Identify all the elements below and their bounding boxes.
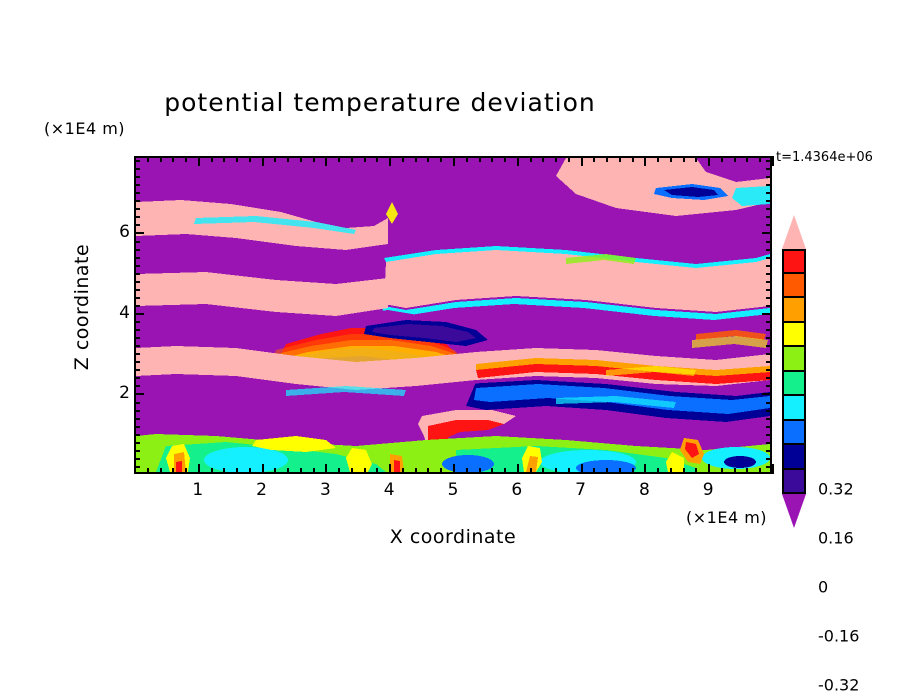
- axis-tick: [134, 402, 140, 404]
- axis-tick: [491, 468, 493, 474]
- axis-tick: [134, 450, 140, 452]
- axis-tick: [134, 442, 140, 444]
- axis-tick: [262, 464, 264, 474]
- axis-tick: [172, 156, 174, 162]
- x-tick-label: 8: [639, 480, 650, 500]
- axis-tick: [466, 468, 468, 474]
- axis-tick: [766, 466, 772, 468]
- axis-tick: [766, 385, 772, 387]
- axis-tick: [134, 297, 140, 299]
- axis-tick: [134, 192, 140, 194]
- axis-tick: [389, 156, 391, 166]
- axis-tick: [766, 289, 772, 291]
- colorbar-tick-label: -0.32: [818, 675, 859, 694]
- axis-tick: [134, 232, 144, 234]
- axis-tick: [313, 468, 315, 474]
- axis-tick: [766, 402, 772, 404]
- axis-tick: [134, 353, 140, 355]
- axis-tick: [287, 468, 289, 474]
- axis-tick: [766, 442, 772, 444]
- axis-tick: [762, 232, 772, 234]
- x-tick-label: 5: [448, 480, 459, 500]
- axis-tick: [766, 353, 772, 355]
- axis-tick: [274, 156, 276, 162]
- axis-tick: [453, 156, 455, 166]
- axis-tick: [134, 393, 144, 395]
- axis-tick: [440, 156, 442, 162]
- axis-tick: [134, 458, 140, 460]
- axis-tick: [262, 156, 264, 166]
- axis-tick: [619, 468, 621, 474]
- plot-frame: [134, 156, 772, 474]
- x-tick-label: 6: [511, 480, 522, 500]
- axis-tick: [236, 468, 238, 474]
- axis-tick: [695, 156, 697, 162]
- axis-tick: [644, 156, 646, 166]
- axis-tick: [134, 160, 140, 162]
- axis-tick: [766, 418, 772, 420]
- axis-tick: [402, 156, 404, 162]
- axis-tick: [134, 281, 140, 283]
- axis-tick: [766, 434, 772, 436]
- axis-tick: [504, 468, 506, 474]
- x-tick-label: 9: [703, 480, 714, 500]
- axis-tick: [134, 369, 140, 371]
- axis-tick: [274, 468, 276, 474]
- axis-tick: [134, 418, 140, 420]
- axis-tick: [198, 156, 200, 166]
- colorbar-under-arrow: [782, 494, 806, 528]
- axis-tick: [606, 468, 608, 474]
- colorbar-band: [782, 372, 806, 397]
- axis-tick: [746, 156, 748, 162]
- x-tick-label: 1: [192, 480, 203, 500]
- colorbar-band: [782, 470, 806, 495]
- axis-tick: [491, 156, 493, 162]
- axis-tick: [134, 345, 140, 347]
- axis-tick: [568, 156, 570, 162]
- axis-tick: [766, 257, 772, 259]
- axis-tick: [766, 184, 772, 186]
- axis-tick: [568, 468, 570, 474]
- axis-tick: [734, 468, 736, 474]
- axis-tick: [325, 156, 327, 166]
- axis-tick: [772, 156, 774, 166]
- axis-tick: [376, 468, 378, 474]
- axis-tick: [479, 156, 481, 162]
- axis-tick: [766, 369, 772, 371]
- axis-tick: [734, 156, 736, 162]
- axis-tick: [766, 281, 772, 283]
- axis-tick: [211, 156, 213, 162]
- axis-tick: [530, 468, 532, 474]
- axis-tick: [364, 156, 366, 162]
- axis-tick: [695, 468, 697, 474]
- axis-tick: [134, 385, 140, 387]
- axis-tick: [657, 468, 659, 474]
- x-tick-label: 3: [320, 480, 331, 500]
- axis-tick: [185, 156, 187, 162]
- y-axis-unit-label: (×1E4 m): [44, 119, 125, 138]
- colorbar-tick-label: 0: [818, 577, 828, 596]
- axis-tick: [593, 468, 595, 474]
- axis-tick: [160, 156, 162, 162]
- axis-tick: [134, 224, 140, 226]
- colorbar-band: [782, 298, 806, 323]
- axis-tick: [172, 468, 174, 474]
- axis-tick: [415, 156, 417, 162]
- axis-tick: [766, 450, 772, 452]
- axis-tick: [632, 156, 634, 162]
- x-tick-label: 2: [256, 480, 267, 500]
- axis-tick: [766, 426, 772, 428]
- x-tick-label: 4: [384, 480, 395, 500]
- axis-tick: [134, 426, 140, 428]
- axis-tick: [504, 156, 506, 162]
- axis-tick: [766, 361, 772, 363]
- axis-tick: [427, 468, 429, 474]
- axis-tick: [683, 468, 685, 474]
- axis-tick: [134, 168, 140, 170]
- axis-tick: [300, 468, 302, 474]
- axis-tick: [766, 297, 772, 299]
- colorbar-band: [782, 347, 806, 372]
- axis-tick: [134, 208, 140, 210]
- colorbar-band: [782, 396, 806, 421]
- axis-tick: [766, 305, 772, 307]
- axis-tick: [766, 208, 772, 210]
- axis-tick: [542, 468, 544, 474]
- axis-tick: [746, 468, 748, 474]
- axis-tick: [766, 377, 772, 379]
- axis-tick: [530, 156, 532, 162]
- x-axis-title: X coordinate: [134, 526, 772, 548]
- axis-tick: [223, 468, 225, 474]
- axis-tick: [325, 464, 327, 474]
- axis-tick: [479, 468, 481, 474]
- axis-tick: [632, 468, 634, 474]
- axis-tick: [517, 156, 519, 166]
- y-tick-label: 6: [104, 222, 130, 242]
- axis-tick: [766, 241, 772, 243]
- axis-tick: [185, 468, 187, 474]
- colorbar-band: [782, 274, 806, 299]
- time-annotation: t=1.4364e+06: [776, 150, 873, 165]
- axis-tick: [223, 156, 225, 162]
- axis-tick: [134, 289, 140, 291]
- axis-tick: [134, 377, 140, 379]
- colorbar-over-arrow: [782, 215, 806, 249]
- axis-tick: [134, 434, 140, 436]
- axis-tick: [766, 337, 772, 339]
- axis-tick: [134, 216, 140, 218]
- axis-tick: [134, 241, 140, 243]
- axis-tick: [581, 464, 583, 474]
- axis-tick: [198, 464, 200, 474]
- colorbar-band: [782, 323, 806, 348]
- axis-tick: [134, 265, 140, 267]
- axis-tick: [134, 313, 144, 315]
- axis-tick: [766, 224, 772, 226]
- colorbar[interactable]: 0.320.160-0.16-0.32: [782, 215, 806, 528]
- axis-tick: [134, 184, 140, 186]
- axis-tick: [249, 156, 251, 162]
- axis-tick: [759, 156, 761, 162]
- colorbar-tick-label: 0.16: [818, 528, 854, 547]
- y-tick-label: 2: [104, 383, 130, 403]
- axis-tick: [555, 156, 557, 162]
- axis-tick: [249, 468, 251, 474]
- axis-tick: [657, 156, 659, 162]
- axis-tick: [134, 176, 140, 178]
- axis-tick: [670, 156, 672, 162]
- axis-tick: [766, 249, 772, 251]
- axis-tick: [766, 273, 772, 275]
- axis-tick: [766, 192, 772, 194]
- axis-tick: [338, 156, 340, 162]
- axis-tick: [351, 468, 353, 474]
- axis-tick: [466, 156, 468, 162]
- axis-tick: [440, 468, 442, 474]
- axis-tick: [759, 468, 761, 474]
- axis-tick: [606, 156, 608, 162]
- axis-tick: [766, 410, 772, 412]
- axis-tick: [134, 200, 140, 202]
- axis-tick: [134, 249, 140, 251]
- plot-area: [134, 156, 772, 474]
- axis-tick: [134, 321, 140, 323]
- colorbar-band: [782, 249, 806, 274]
- axis-tick: [389, 464, 391, 474]
- axis-tick: [453, 464, 455, 474]
- colorbar-band: [782, 421, 806, 446]
- axis-tick: [236, 156, 238, 162]
- axis-tick: [134, 337, 140, 339]
- axis-tick: [300, 156, 302, 162]
- axis-tick: [766, 265, 772, 267]
- axis-tick: [427, 156, 429, 162]
- axis-tick: [364, 468, 366, 474]
- axis-tick: [147, 468, 149, 474]
- axis-tick: [402, 468, 404, 474]
- axis-tick: [766, 216, 772, 218]
- axis-tick: [708, 464, 710, 474]
- axis-tick: [766, 200, 772, 202]
- colorbar-tick-label: -0.16: [818, 626, 859, 645]
- axis-tick: [762, 393, 772, 395]
- axis-tick: [134, 273, 140, 275]
- axis-tick: [415, 468, 417, 474]
- axis-tick: [766, 168, 772, 170]
- x-tick-label: 7: [575, 480, 586, 500]
- axis-tick: [683, 156, 685, 162]
- axis-tick: [134, 410, 140, 412]
- axis-tick: [766, 329, 772, 331]
- axis-tick: [376, 156, 378, 162]
- y-axis-title: Z coordinate: [71, 207, 93, 407]
- axis-tick: [134, 329, 140, 331]
- axis-tick: [287, 156, 289, 162]
- axis-tick: [708, 156, 710, 166]
- axis-tick: [338, 468, 340, 474]
- axis-tick: [766, 345, 772, 347]
- colorbar-tick-label: 0.32: [818, 479, 854, 498]
- axis-tick: [721, 468, 723, 474]
- axis-tick: [670, 468, 672, 474]
- axis-tick: [766, 176, 772, 178]
- axis-tick: [644, 464, 646, 474]
- axis-tick: [134, 361, 140, 363]
- y-tick-label: 4: [104, 303, 130, 323]
- axis-tick: [766, 321, 772, 323]
- axis-tick: [147, 156, 149, 162]
- axis-tick: [581, 156, 583, 166]
- axis-tick: [134, 305, 140, 307]
- axis-tick: [772, 464, 774, 474]
- axis-tick: [593, 156, 595, 162]
- axis-tick: [313, 156, 315, 162]
- axis-tick: [517, 464, 519, 474]
- axis-tick: [211, 468, 213, 474]
- axis-tick: [134, 466, 140, 468]
- axis-tick: [351, 156, 353, 162]
- axis-tick: [555, 468, 557, 474]
- axis-tick: [160, 468, 162, 474]
- axis-tick: [542, 156, 544, 162]
- chart-title: potential temperature deviation: [0, 88, 760, 117]
- x-axis-unit-label: (×1E4 m): [686, 508, 767, 527]
- axis-tick: [766, 160, 772, 162]
- axis-tick: [721, 156, 723, 162]
- colorbar-band: [782, 445, 806, 470]
- axis-tick: [762, 313, 772, 315]
- axis-tick: [134, 257, 140, 259]
- axis-tick: [766, 458, 772, 460]
- axis-tick: [619, 156, 621, 162]
